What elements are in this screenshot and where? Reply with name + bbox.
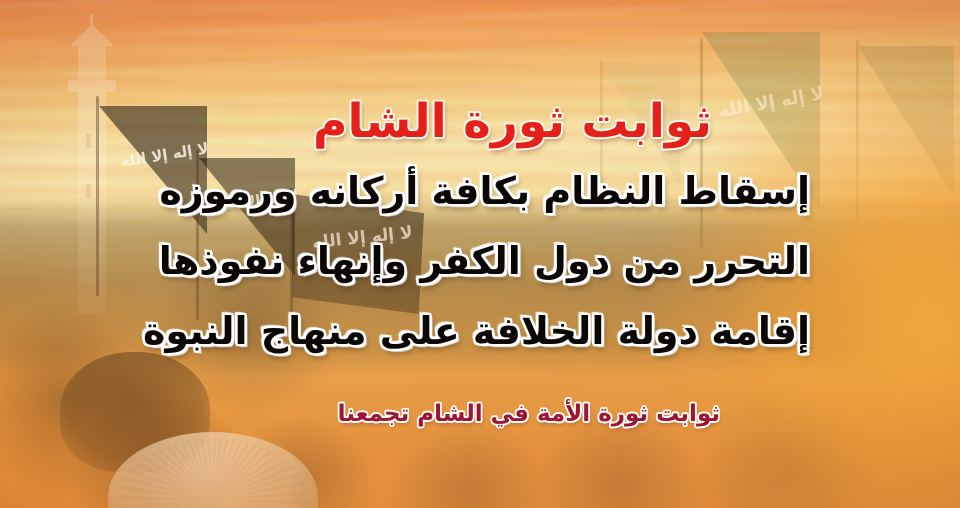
principle-line-1: إسقاط النظام بكافة أركانه ورموزه xyxy=(159,172,810,210)
principle-line-3: إقامة دولة الخلافة على منهاج النبوة xyxy=(143,312,810,350)
principle-line-2: التحرر من دول الكفر وإنهاء نفوذها xyxy=(159,242,810,280)
poster-title: ثوابت ثورة الشام xyxy=(313,98,712,145)
poster-image: لا إله إلا الله لا إله إلا الله لا إله إ… xyxy=(0,0,960,508)
poster-footer-slogan: ثوابت ثورة الأمة في الشام تجمعنا xyxy=(338,403,720,426)
